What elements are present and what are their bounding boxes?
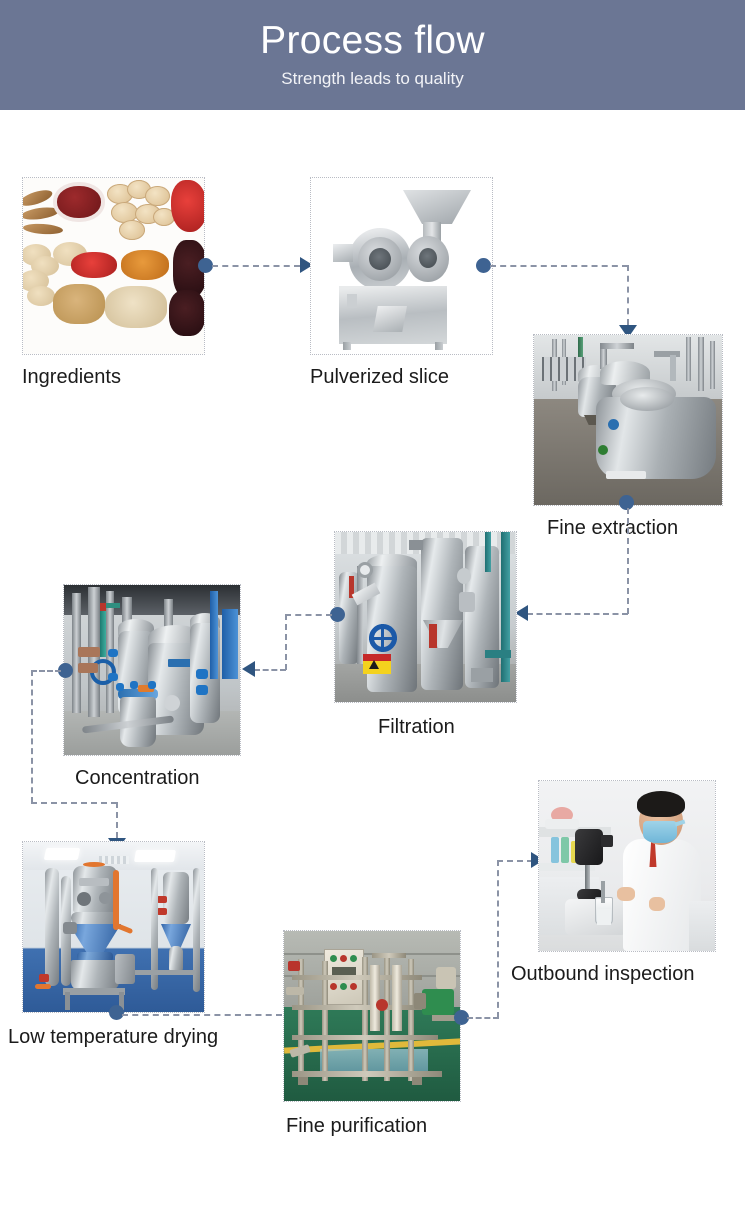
connector-segment	[497, 860, 499, 1018]
page-subtitle: Strength leads to quality	[281, 69, 463, 89]
purification-skid-photo	[284, 931, 460, 1101]
step-filtration-frame	[334, 531, 517, 703]
fluid-bed-dryer-photo	[23, 842, 204, 1012]
connector-segment	[627, 508, 629, 614]
connector-segment	[285, 614, 287, 670]
connector-segment	[31, 802, 117, 804]
step-ingredients-frame	[22, 177, 205, 355]
step-concentration-frame	[63, 584, 241, 756]
step-pulverized-slice-label: Pulverized slice	[310, 367, 449, 387]
step-outbound-inspection-frame	[538, 780, 716, 952]
step-fine-extraction-label: Fine extraction	[547, 518, 678, 538]
connector-segment	[116, 802, 118, 838]
step-outbound-inspection-label: Outbound inspection	[511, 964, 694, 984]
connector-segment	[627, 265, 629, 325]
pulverizer-machine-photo	[311, 178, 492, 354]
connector-segment	[254, 669, 286, 671]
connector-segment	[527, 613, 628, 615]
step-filtration-label: Filtration	[378, 717, 455, 737]
step-fine-purification-label: Fine purification	[286, 1116, 427, 1136]
page-header-banner: Process flow Strength leads to quality	[0, 0, 745, 110]
step-low-temperature-drying-frame	[22, 841, 205, 1013]
filtration-columns-photo	[335, 532, 516, 702]
concentration-tanks-photo	[64, 585, 240, 755]
step-ingredients-label: Ingredients	[22, 367, 121, 387]
step-fine-purification-frame	[283, 930, 461, 1102]
page-title: Process flow	[260, 21, 485, 62]
connector-start-dot	[109, 1005, 124, 1020]
connector-segment	[285, 614, 332, 616]
step-pulverized-slice-frame	[310, 177, 493, 355]
connector-start-dot	[198, 258, 213, 273]
connector-segment	[31, 670, 61, 672]
connector-segment	[31, 670, 33, 803]
connector-start-dot	[476, 258, 491, 273]
step-fine-extraction-frame	[533, 334, 723, 506]
step-low-temperature-drying-label: Low temperature drying	[8, 1027, 218, 1047]
connector-segment	[212, 265, 300, 267]
lab-technician-photo	[539, 781, 715, 951]
connector-segment	[467, 1017, 499, 1019]
process-flow-page: Process flow Strength leads to quality	[0, 0, 745, 1223]
connector-segment	[497, 860, 533, 862]
connector-start-dot	[330, 607, 345, 622]
connector-arrowhead	[242, 661, 255, 677]
step-concentration-label: Concentration	[75, 768, 200, 788]
connector-segment	[490, 265, 628, 267]
connector-segment	[122, 1014, 282, 1016]
dried-herbs-photo	[23, 178, 204, 354]
extraction-tanks-photo	[534, 335, 722, 505]
